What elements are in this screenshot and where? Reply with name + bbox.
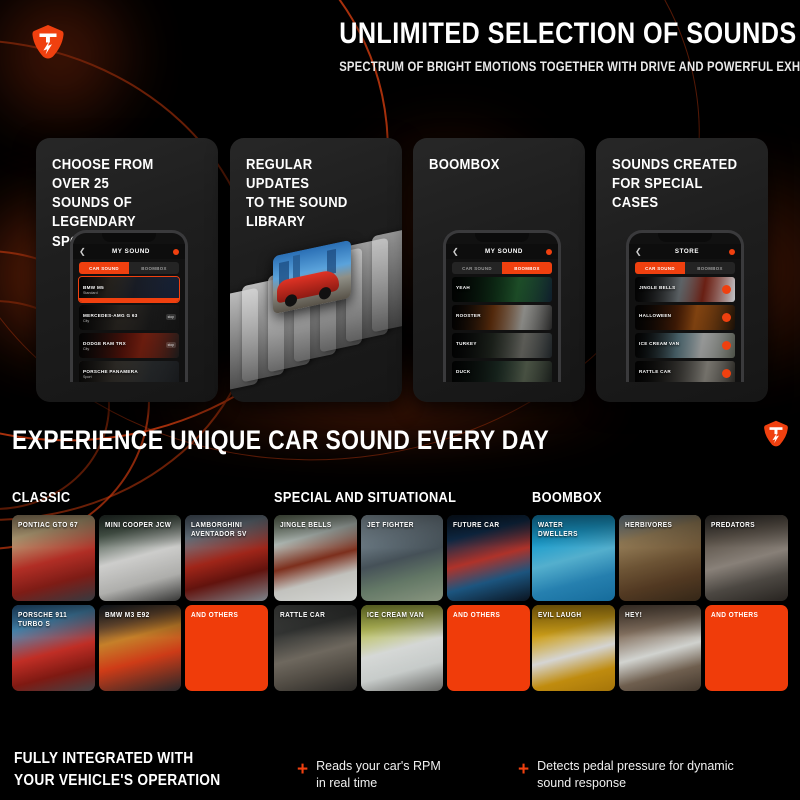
row-badge[interactable]: stop (166, 314, 176, 320)
list-item[interactable]: DODGE RAM TRX City stop (79, 333, 179, 358)
promo-page: UNLIMITED SELECTION OF SOUNDS SPECTRUM O… (0, 0, 800, 800)
tab-car-sound[interactable]: CAR SOUND (79, 262, 129, 274)
sound-tile[interactable]: HERBIVORES (619, 515, 702, 601)
row-subtitle: Standard (83, 291, 98, 295)
tile-label: AND OTHERS (711, 611, 778, 620)
plus-icon: + (297, 760, 308, 779)
buy-button[interactable] (722, 341, 731, 350)
row-badge[interactable]: stop (166, 342, 176, 348)
chevron-left-icon[interactable]: ❮ (79, 247, 89, 256)
footer-feature-pedal: + Detects pedal pressure for dynamicsoun… (518, 758, 734, 791)
tile-grid: WATER DWELLERS HERBIVORES PREDATORS EVIL… (532, 515, 788, 691)
tile-label: AND OTHERS (191, 611, 258, 620)
tab-boombox[interactable]: BOOMBOX (685, 262, 735, 274)
footer-feature-rpm: + Reads your car's RPMin real time (297, 758, 441, 791)
list-item[interactable]: TURKEY (452, 333, 552, 358)
buy-button[interactable] (722, 369, 731, 378)
feature-card-regular-updates[interactable]: REGULAR UPDATESTO THE SOUND LIBRARY (230, 138, 402, 402)
phone-notch (102, 233, 156, 242)
page-subtitle: SPECTRUM OF BRIGHT EMOTIONS TOGETHER WIT… (339, 59, 751, 74)
tab-boombox[interactable]: BOOMBOX (129, 262, 179, 274)
tile-label: ICE CREAM VAN (367, 611, 434, 620)
tile-label: PONTIAC GTO 67 (18, 521, 85, 530)
sound-tile[interactable]: BMW M3 E92 (99, 605, 182, 691)
phone-nav-title: MY SOUND (462, 248, 546, 255)
tab-car-sound[interactable]: CAR SOUND (452, 262, 502, 274)
hero-section: UNLIMITED SELECTION OF SOUNDS SPECTRUM O… (0, 0, 800, 120)
fanned-sound-library-cards (230, 226, 402, 402)
phone-tab-bar: CAR SOUND BOOMBOX (79, 262, 179, 274)
sound-tile[interactable]: JET FIGHTER (361, 515, 444, 601)
feature-card-choose-sounds[interactable]: CHOOSE FROM OVER 25SOUNDS OF LEGENDARYSP… (36, 138, 218, 402)
phone-tab-bar: CAR SOUND BOOMBOX (452, 262, 552, 274)
sound-tile-and-others[interactable]: AND OTHERS (705, 605, 788, 691)
phone-nav-title: STORE (645, 248, 729, 255)
tile-grid: JINGLE BELLS JET FIGHTER FUTURE CAR RATT… (274, 515, 530, 691)
phone-notch (475, 233, 529, 242)
hero-text-block: UNLIMITED SELECTION OF SOUNDS SPECTRUM O… (300, 18, 790, 74)
library-sheet (372, 228, 402, 333)
group-classic: CLASSIC PONTIAC GTO 67 MINI COOPER JCW L… (12, 490, 268, 691)
record-dot-icon[interactable] (729, 249, 735, 255)
phone-notch (658, 233, 712, 242)
row-subtitle: City (83, 319, 89, 323)
list-item[interactable]: ICE CREAM VAN (635, 333, 735, 358)
sound-tile-and-others[interactable]: AND OTHERS (185, 605, 268, 691)
tile-label: PREDATORS (711, 521, 778, 530)
group-title: BOOMBOX (532, 490, 757, 506)
tab-boombox[interactable]: BOOMBOX (502, 262, 552, 274)
tile-label: PORSCHE 911 TURBO S (18, 611, 85, 630)
feature-card-title: REGULAR UPDATESTO THE SOUND LIBRARY (246, 156, 376, 233)
feature-card-special-cases[interactable]: SOUNDS CREATEDFOR SPECIAL CASES ❮ STORE … (596, 138, 768, 402)
logo-svg (763, 420, 789, 448)
tile-label: JINGLE BELLS (280, 521, 347, 530)
tile-label: HEY! (625, 611, 692, 620)
list-item[interactable]: MERCEDES-AMG G 63 City stop (79, 305, 179, 330)
list-item[interactable]: DUCK (452, 361, 552, 382)
tile-label: LAMBORGHINIAVENTADOR SV (191, 521, 258, 540)
sound-tile[interactable]: FUTURE CAR (447, 515, 530, 601)
row-title: BMW M5 (83, 285, 104, 290)
phone-mock-store: ❮ STORE CAR SOUND BOOMBOX JINGLE BELLS (626, 230, 744, 382)
row-title: HALLOWEEN (639, 313, 671, 318)
row-subtitle: City (83, 347, 89, 351)
thunder-shield-logo-icon (31, 24, 65, 60)
sound-tile[interactable]: RATTLE CAR (274, 605, 357, 691)
feature-cards-row: CHOOSE FROM OVER 25SOUNDS OF LEGENDARYSP… (0, 138, 800, 408)
row-title: DUCK (456, 369, 470, 374)
record-dot-icon[interactable] (173, 249, 179, 255)
chevron-left-icon[interactable]: ❮ (635, 247, 645, 256)
footer-lead-text: FULLY INTEGRATED WITHYOUR VEHICLE'S OPER… (14, 748, 220, 791)
logo-svg (31, 24, 65, 60)
list-item[interactable]: PORSCHE PANAMERA Sport (79, 361, 179, 382)
sound-tile-and-others[interactable]: AND OTHERS (447, 605, 530, 691)
phone-nav-bar: ❮ MY SOUND (73, 244, 185, 259)
tile-label: FUTURE CAR (453, 521, 520, 530)
page-title: UNLIMITED SELECTION OF SOUNDS (339, 18, 751, 50)
feature-card-title: SOUNDS CREATEDFOR SPECIAL CASES (612, 156, 742, 213)
row-title: ICE CREAM VAN (639, 341, 679, 346)
sound-tile[interactable]: MINI COOPER JCW (99, 515, 182, 601)
row-title: PORSCHE PANAMERA (83, 369, 138, 374)
row-title: DODGE RAM TRX (83, 341, 126, 346)
sound-tile[interactable]: HEY! (619, 605, 702, 691)
row-title: RATTLE CAR (639, 369, 671, 374)
sound-tile[interactable]: PONTIAC GTO 67 (12, 515, 95, 601)
group-title: CLASSIC (12, 490, 237, 506)
thunder-shield-logo-icon (763, 420, 789, 448)
tile-label: EVIL LAUGH (538, 611, 605, 620)
phone-mock-boombox: ❮ MY SOUND CAR SOUND BOOMBOX YEAH (443, 230, 561, 382)
row-selected-bar (79, 298, 179, 302)
sound-tile[interactable]: EVIL LAUGH (532, 605, 615, 691)
phone-sound-list[interactable]: JINGLE BELLS HALLOWEEN ICE CREAM VAN (635, 277, 735, 382)
tile-grid: PONTIAC GTO 67 MINI COOPER JCW LAMBORGHI… (12, 515, 268, 691)
list-item[interactable]: BMW M5 Standard (79, 277, 179, 302)
sound-tile[interactable]: JINGLE BELLS (274, 515, 357, 601)
sound-tile[interactable]: WATER DWELLERS (532, 515, 615, 601)
footer-feature-text: Reads your car's RPMin real time (316, 758, 441, 791)
phone-nav-bar: ❮ MY SOUND (446, 244, 558, 259)
list-item[interactable]: HALLOWEEN (635, 305, 735, 330)
sound-tile[interactable]: PORSCHE 911 TURBO S (12, 605, 95, 691)
list-item[interactable]: ROOSTER (452, 305, 552, 330)
sound-tile[interactable]: LAMBORGHINIAVENTADOR SV (185, 515, 268, 601)
tile-label: RATTLE CAR (280, 611, 347, 620)
tile-label: WATER DWELLERS (538, 521, 605, 540)
list-item[interactable]: YEAH (452, 277, 552, 302)
row-title: YEAH (456, 285, 470, 290)
tile-label: HERBIVORES (625, 521, 692, 530)
plus-icon: + (518, 760, 529, 779)
row-title: TURKEY (456, 341, 477, 346)
footer-feature-text: Detects pedal pressure for dynamicsound … (537, 758, 734, 791)
section-headline: EXPERIENCE UNIQUE CAR SOUND EVERY DAY (12, 425, 549, 456)
phone-mock-my-sound: ❮ MY SOUND CAR SOUND BOOMBOX BMW M5 Stan… (70, 230, 188, 382)
list-item[interactable]: JINGLE BELLS (635, 277, 735, 302)
phone-nav-bar: ❮ STORE (629, 244, 741, 259)
record-dot-icon[interactable] (546, 249, 552, 255)
phone-sound-list[interactable]: BMW M5 Standard MERCEDES-AMG G 63 City s… (79, 277, 179, 382)
footer-section: FULLY INTEGRATED WITHYOUR VEHICLE'S OPER… (0, 742, 800, 800)
row-title: ROOSTER (456, 313, 481, 318)
list-item[interactable]: RATTLE CAR (635, 361, 735, 382)
sound-tile[interactable]: PREDATORS (705, 515, 788, 601)
row-title: MERCEDES-AMG G 63 (83, 313, 138, 318)
tab-car-sound[interactable]: CAR SOUND (635, 262, 685, 274)
tile-label: MINI COOPER JCW (105, 521, 172, 530)
row-title: JINGLE BELLS (639, 285, 676, 290)
tile-label: JET FIGHTER (367, 521, 434, 530)
group-boombox: BOOMBOX WATER DWELLERS HERBIVORES PREDAT… (532, 490, 788, 691)
row-subtitle: Sport (83, 375, 92, 379)
phone-sound-list[interactable]: YEAH ROOSTER TURKEY (452, 277, 552, 382)
group-title: SPECIAL AND SITUATIONAL (274, 490, 499, 506)
buy-button[interactable] (722, 313, 731, 322)
phone-nav-title: MY SOUND (89, 248, 173, 255)
group-special-situational: SPECIAL AND SITUATIONAL JINGLE BELLS JET… (274, 490, 530, 691)
feature-card-title: BOOMBOX (429, 156, 559, 175)
buy-button[interactable] (722, 285, 731, 294)
chevron-left-icon[interactable]: ❮ (452, 247, 462, 256)
feature-card-boombox[interactable]: BOOMBOX ❮ MY SOUND CAR SOUND BOOMBOX YE (413, 138, 585, 402)
phone-tab-bar: CAR SOUND BOOMBOX (635, 262, 735, 274)
sound-tile[interactable]: ICE CREAM VAN (361, 605, 444, 691)
tile-label: AND OTHERS (453, 611, 520, 620)
tile-label: BMW M3 E92 (105, 611, 172, 620)
